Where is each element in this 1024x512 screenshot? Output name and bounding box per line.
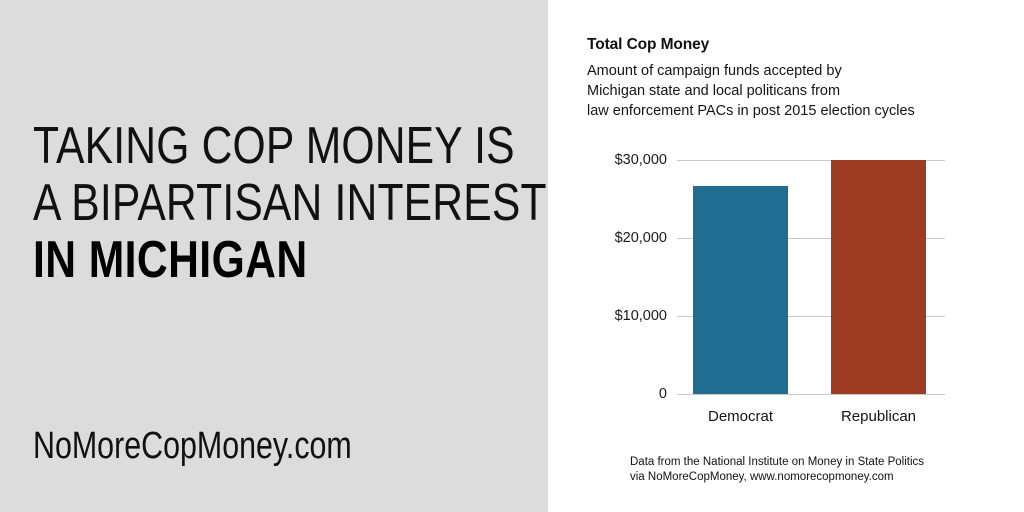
gridline-0 xyxy=(677,394,945,395)
headline-panel: TAKING COP MONEY IS A BIPARTISAN INTERES… xyxy=(0,0,548,512)
bar-democrat[interactable] xyxy=(693,186,788,394)
ytick-label-30000: $30,000 xyxy=(562,152,667,168)
xtick-label-republican: Republican xyxy=(811,408,946,425)
bar-republican[interactable] xyxy=(831,160,926,394)
bar-chart-plot-area: $30,000 $20,000 $10,000 0 Democrat Repub… xyxy=(548,0,1024,512)
xtick-label-democrat: Democrat xyxy=(673,408,808,425)
ytick-label-0: 0 xyxy=(562,386,667,402)
chart-source-note: Data from the National Institute on Mone… xyxy=(630,455,924,485)
headline-line-2: A BIPARTISAN INTEREST xyxy=(33,175,443,232)
ytick-label-20000: $20,000 xyxy=(562,230,667,246)
page-title: TAKING COP MONEY IS A BIPARTISAN INTERES… xyxy=(33,118,533,289)
site-url-text: NoMoreCopMoney.com xyxy=(33,425,352,467)
infographic-canvas: TAKING COP MONEY IS A BIPARTISAN INTERES… xyxy=(0,0,1024,512)
headline-line-3: IN MICHIGAN xyxy=(33,232,443,289)
headline-line-1: TAKING COP MONEY IS xyxy=(33,118,443,175)
ytick-label-10000: $10,000 xyxy=(562,308,667,324)
chart-panel: Total Cop Money Amount of campaign funds… xyxy=(548,0,1024,512)
